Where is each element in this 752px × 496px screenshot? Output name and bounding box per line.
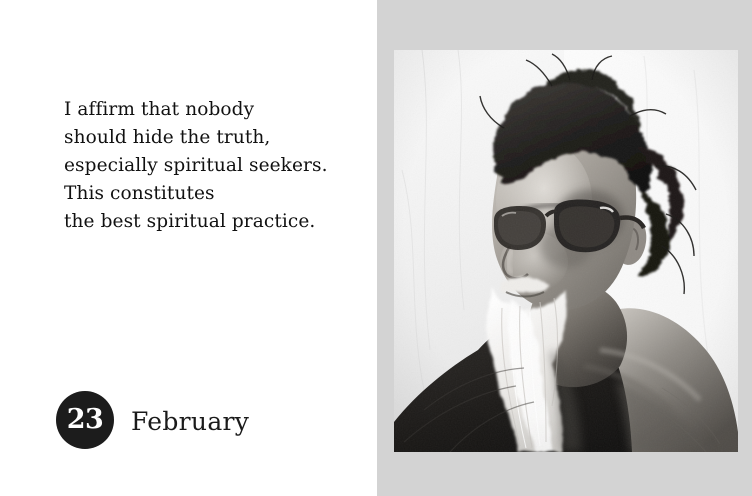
day-number: 23	[67, 406, 104, 433]
quote-line-4: This constitutes	[64, 180, 364, 208]
quote-text: I affirm that nobody should hide the tru…	[64, 96, 364, 236]
portrait-photo-image	[394, 50, 738, 452]
quote-line-3: especially spiritual seekers.	[64, 152, 364, 180]
date-footer: 23 February	[56, 391, 249, 449]
quote-line-5: the best spiritual practice.	[64, 208, 364, 236]
quote-panel: I affirm that nobody should hide the tru…	[0, 0, 377, 496]
day-badge: 23	[56, 391, 114, 449]
portrait-photo	[394, 50, 738, 452]
month-name: February	[131, 409, 249, 434]
quote-line-2: should hide the truth,	[64, 124, 364, 152]
quote-line-1: I affirm that nobody	[64, 96, 364, 124]
calendar-page: I affirm that nobody should hide the tru…	[0, 0, 752, 496]
